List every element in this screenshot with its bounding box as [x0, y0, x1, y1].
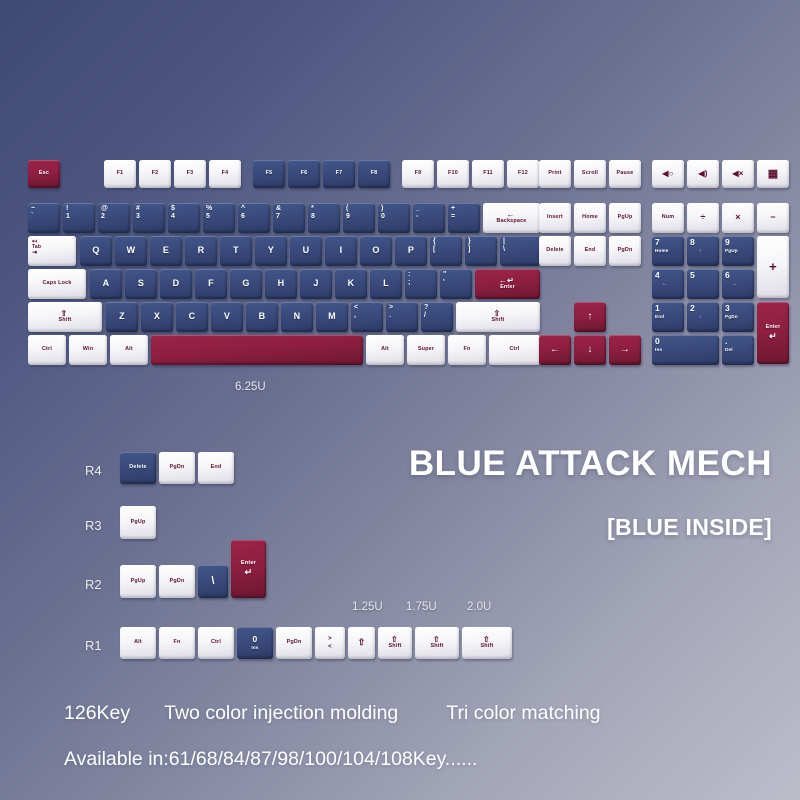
key-r3-pgup[interactable]: PgUp	[120, 506, 156, 539]
key-legend-top: ?	[424, 304, 428, 311]
key-z[interactable]: Z	[106, 302, 138, 332]
spacebar-size-label: 6.25U	[235, 381, 266, 393]
key-legend-top: +	[451, 205, 455, 212]
down-arrow-icon: ↓	[587, 345, 592, 355]
key-numpad-2[interactable]: 2 ↓	[687, 302, 719, 332]
key-j[interactable]: J	[300, 269, 332, 299]
key-legend-bottom: '	[443, 279, 445, 286]
key-legend: Z	[119, 312, 125, 321]
key-legend: PgDn	[170, 579, 185, 585]
key-numpad-decimal[interactable]: . Del	[722, 335, 754, 365]
key-k[interactable]: K	[335, 269, 367, 299]
key-legend: G	[242, 279, 249, 288]
key-f7[interactable]: F7	[323, 160, 355, 188]
key-legend: Num	[662, 215, 675, 221]
vol-up-icon: ◀)	[698, 170, 707, 178]
footer-feature-1: Two color injection molding	[164, 702, 398, 725]
key-numpad-divide[interactable]: ÷	[687, 203, 719, 233]
key-insert[interactable]: Insert	[539, 203, 571, 233]
key-legend: M	[328, 312, 336, 321]
product-image-canvas: Esc F1 F2 F3 F4 F5 F6 F7 F8 F9 F10 F11 F…	[0, 0, 800, 800]
product-title: BLUE ATTACK MECH	[409, 444, 772, 484]
key-legend-top: )	[381, 205, 384, 212]
key-legend: Pause	[617, 171, 634, 177]
key-legend: \	[211, 576, 214, 587]
key-bracket-right[interactable]: } ]	[465, 236, 497, 266]
key-legend: T	[233, 246, 239, 255]
key-legend: Home	[582, 215, 598, 221]
key-legend: F6	[301, 171, 308, 177]
key-legend: Alt	[134, 640, 142, 646]
key-legend: C	[189, 312, 196, 321]
key-pause[interactable]: Pause	[609, 160, 641, 188]
key-legend: F5	[266, 171, 273, 177]
key-legend: Shift	[431, 644, 444, 650]
key-r1-fn[interactable]: Fn	[159, 627, 195, 659]
key-legend-bottom: .	[389, 312, 391, 319]
key-legend-top: _	[416, 205, 420, 212]
key-legend-bottom: 1	[66, 213, 70, 220]
key-legend: Fn	[464, 347, 471, 353]
key-legend-top: 7	[655, 238, 660, 247]
key-legend-top: 6	[725, 271, 730, 280]
key-legend: Caps Lock	[42, 281, 71, 287]
key-home[interactable]: Home	[574, 203, 606, 233]
key-legend: Delete	[546, 248, 563, 254]
key-legend-bottom: 2	[101, 213, 105, 220]
key-period[interactable]: > .	[386, 302, 418, 332]
key-8[interactable]: * 8	[308, 203, 340, 233]
key-g[interactable]: G	[230, 269, 262, 299]
key-numpad-9[interactable]: 9 PgUp	[722, 236, 754, 266]
key-n[interactable]: N	[281, 302, 313, 332]
key-legend: O	[372, 246, 379, 255]
key-legend: R	[198, 246, 205, 255]
key-y[interactable]: Y	[255, 236, 287, 266]
key-r2-iso-enter[interactable]: Enter ↵	[231, 540, 266, 598]
key-ctrl-left[interactable]: Ctrl	[28, 335, 66, 365]
key-legend-top: 0	[655, 337, 660, 346]
key-numlock[interactable]: Num	[652, 203, 684, 233]
key-r1-angle[interactable]: > <	[315, 627, 345, 659]
key-minus[interactable]: _ -	[413, 203, 445, 233]
key-legend: PgUp	[618, 215, 633, 221]
key-m[interactable]: M	[316, 302, 348, 332]
key-legend-bottom: PgDn	[725, 315, 738, 320]
key-3[interactable]: # 3	[133, 203, 165, 233]
key-r1-ctrl[interactable]: Ctrl	[198, 627, 234, 659]
row-label-r1: R1	[85, 638, 102, 653]
key-5[interactable]: % 5	[203, 203, 235, 233]
row-label-r2: R2	[85, 577, 102, 592]
key-legend-top: #	[136, 205, 140, 212]
key-legend: Ctrl	[42, 347, 52, 353]
key-alt-left[interactable]: Alt	[110, 335, 148, 365]
key-backspace[interactable]: ← Backspace	[483, 203, 540, 233]
right-arrow-icon: →	[732, 282, 737, 287]
key-q[interactable]: Q	[80, 236, 112, 266]
key-end[interactable]: End	[574, 236, 606, 266]
key-volume-down[interactable]: ◀○	[652, 160, 684, 188]
key-legend: PgDn	[170, 465, 185, 471]
key-legend: −	[770, 213, 775, 222]
key-arrow-right[interactable]: →	[609, 335, 641, 365]
key-2[interactable]: @ 2	[98, 203, 130, 233]
key-legend: Delete	[129, 465, 146, 471]
key-7[interactable]: & 7	[273, 203, 305, 233]
key-legend: Enter	[241, 561, 256, 567]
key-v[interactable]: V	[211, 302, 243, 332]
key-legend-bottom: =	[451, 213, 455, 220]
key-legend: F1	[117, 171, 124, 177]
key-a[interactable]: A	[90, 269, 122, 299]
key-r1-alt[interactable]: Alt	[120, 627, 156, 659]
key-r1-pgdn[interactable]: PgDn	[276, 627, 312, 659]
key-f9[interactable]: F9	[402, 160, 434, 188]
key-r1-zero-ins[interactable]: 0 Ins	[237, 627, 273, 659]
up-arrow-icon: ↑	[699, 249, 702, 254]
key-l[interactable]: L	[370, 269, 402, 299]
key-legend-bottom: ]	[468, 246, 471, 253]
key-legend: L	[383, 279, 389, 288]
key-backslash[interactable]: | \	[500, 236, 540, 266]
shift-200u-label: 2.0U	[467, 601, 491, 613]
key-i[interactable]: I	[325, 236, 357, 266]
key-legend-bottom: 7	[276, 213, 280, 220]
key-legend-bottom: Home	[655, 249, 669, 254]
key-legend-top: "	[443, 271, 447, 278]
key-r4-delete[interactable]: Delete	[120, 452, 156, 484]
calculator-icon: ▦	[768, 169, 779, 180]
key-legend: B	[259, 312, 266, 321]
shift-125u-label: 1.25U	[352, 601, 383, 613]
key-legend: Insert	[547, 215, 563, 221]
product-subtitle: [BLUE INSIDE]	[607, 514, 772, 541]
key-legend: F7	[336, 171, 343, 177]
key-f3[interactable]: F3	[174, 160, 206, 188]
key-numpad-5[interactable]: 5	[687, 269, 719, 299]
footer-features: 126KeyTwo color injection moldingTri col…	[64, 702, 601, 725]
key-legend-bottom: Ins	[251, 646, 258, 651]
key-calculator[interactable]: ▦	[757, 160, 789, 188]
key-bracket-left[interactable]: { [	[430, 236, 462, 266]
key-legend: ×	[735, 213, 740, 222]
key-legend-top: *	[311, 205, 314, 212]
left-arrow-icon: ←	[662, 282, 667, 287]
key-legend-bottom: PgUp	[725, 249, 738, 254]
key-r1-shift-1u[interactable]: ⇧	[348, 627, 375, 659]
key-legend-top: 9	[725, 238, 730, 247]
key-shift-right[interactable]: ⇧ Shift	[456, 302, 540, 332]
key-legend-bottom: Del	[725, 348, 733, 353]
key-legend-bottom: \	[503, 246, 505, 253]
key-legend-bottom: Ins	[655, 348, 662, 353]
key-legend: Shift	[389, 644, 402, 650]
left-arrow-icon: ←	[550, 345, 560, 355]
key-legend-bottom: End	[655, 315, 664, 320]
key-r1-shift-200u[interactable]: ⇧ Shift	[462, 627, 512, 659]
shift-arrow-icon: ⇧	[358, 638, 366, 647]
key-legend: U	[303, 246, 310, 255]
key-f11[interactable]: F11	[472, 160, 504, 188]
key-f2[interactable]: F2	[139, 160, 171, 188]
key-legend-top: 1	[655, 304, 660, 313]
key-r2-pgdn[interactable]: PgDn	[159, 565, 195, 598]
key-legend-top: ~	[31, 205, 35, 212]
key-r[interactable]: R	[185, 236, 217, 266]
key-numpad-6[interactable]: 6 →	[722, 269, 754, 299]
key-semicolon[interactable]: : ;	[405, 269, 437, 299]
enter-arrow-icon: ↵	[245, 568, 253, 577]
key-legend-bottom: 9	[346, 213, 350, 220]
key-legend-top: !	[66, 205, 69, 212]
key-legend: PgUp	[131, 579, 146, 585]
key-legend: +	[769, 260, 777, 273]
key-arrow-up[interactable]: ↑	[574, 302, 606, 332]
key-ctrl-right[interactable]: Ctrl	[489, 335, 540, 365]
key-legend-bottom: 3	[136, 213, 140, 220]
key-legend: F10	[448, 171, 458, 177]
key-f5[interactable]: F5	[253, 160, 285, 188]
key-legend-top: %	[206, 205, 212, 212]
key-legend: S	[138, 279, 144, 288]
key-legend: Fn	[174, 640, 181, 646]
key-numpad-multiply[interactable]: ×	[722, 203, 754, 233]
key-legend: Shift	[59, 318, 72, 324]
key-legend: N	[294, 312, 301, 321]
key-f12[interactable]: F12	[507, 160, 539, 188]
key-legend-bottom: -	[416, 213, 419, 220]
key-legend: I	[340, 246, 343, 255]
key-f8[interactable]: F8	[358, 160, 390, 188]
key-legend: D	[173, 279, 180, 288]
key-0[interactable]: ) 0	[378, 203, 410, 233]
key-f[interactable]: F	[195, 269, 227, 299]
key-legend: ÷	[700, 213, 705, 222]
key-legend: Ctrl	[509, 347, 519, 353]
key-legend-bottom: /	[424, 312, 426, 319]
key-legend: Shift	[492, 318, 505, 324]
enter-arrow-icon: ↵	[769, 332, 777, 341]
key-4[interactable]: $ 4	[168, 203, 200, 233]
footer-feature-2: Tri color matching	[446, 702, 600, 725]
key-delete[interactable]: Delete	[539, 236, 571, 266]
key-r2-backslash[interactable]: \	[198, 565, 228, 598]
row-label-r3: R3	[85, 518, 102, 533]
key-1[interactable]: ! 1	[63, 203, 95, 233]
key-legend-bottom: 4	[171, 213, 175, 220]
key-numpad-7[interactable]: 7 Home	[652, 236, 684, 266]
key-legend: E	[163, 246, 169, 255]
key-legend: Enter	[766, 325, 781, 331]
row-label-r4: R4	[85, 463, 102, 478]
key-legend-top: &	[276, 205, 281, 212]
footer-key-count: 126Key	[64, 702, 130, 725]
key-numpad-3[interactable]: 3 PgDn	[722, 302, 754, 332]
key-win[interactable]: Win	[69, 335, 107, 365]
key-caps-lock[interactable]: Caps Lock	[28, 269, 86, 299]
key-9[interactable]: ( 9	[343, 203, 375, 233]
key-legend: F12	[518, 171, 528, 177]
key-legend: Enter	[500, 285, 515, 291]
key-quote[interactable]: " '	[440, 269, 472, 299]
key-arrow-down[interactable]: ↓	[574, 335, 606, 365]
key-tab[interactable]: ↤ Tab ⇥	[28, 236, 76, 266]
shift-175u-label: 1.75U	[406, 601, 437, 613]
key-w[interactable]: W	[115, 236, 147, 266]
key-legend: A	[103, 279, 110, 288]
key-legend: P	[408, 246, 414, 255]
key-numpad-plus[interactable]: +	[757, 236, 789, 298]
key-legend: Alt	[381, 347, 389, 353]
key-esc[interactable]: Esc	[28, 160, 60, 188]
key-legend-top: >	[328, 636, 332, 642]
key-pgdn[interactable]: PgDn	[609, 236, 641, 266]
key-legend-top: }	[468, 238, 471, 245]
key-numpad-0[interactable]: 0 Ins	[652, 335, 719, 365]
key-f10[interactable]: F10	[437, 160, 469, 188]
key-f1[interactable]: F1	[104, 160, 136, 188]
right-arrow-icon: →	[620, 345, 630, 355]
key-legend-bottom: ;	[408, 279, 411, 286]
key-f4[interactable]: F4	[209, 160, 241, 188]
key-legend-top: 3	[725, 304, 730, 313]
key-legend: PgDn	[618, 248, 633, 254]
key-h[interactable]: H	[265, 269, 297, 299]
key-legend: F8	[371, 171, 378, 177]
key-legend: Win	[83, 347, 93, 353]
key-legend: Backspace	[497, 219, 527, 225]
key-print[interactable]: Print	[539, 160, 571, 188]
down-arrow-icon: ↓	[699, 315, 702, 320]
key-legend: J	[313, 279, 318, 288]
key-b[interactable]: B	[246, 302, 278, 332]
key-legend-top: <	[354, 304, 358, 311]
key-legend: PgDn	[287, 640, 302, 646]
key-legend: F11	[483, 171, 493, 177]
key-fn[interactable]: Fn	[448, 335, 486, 365]
key-r1-shift-125u[interactable]: ⇧ Shift	[378, 627, 412, 659]
key-legend-top: :	[408, 271, 411, 278]
key-t[interactable]: T	[220, 236, 252, 266]
key-legend: Esc	[39, 171, 49, 177]
key-legend-top: 4	[655, 271, 660, 280]
key-slash[interactable]: ? /	[421, 302, 453, 332]
key-comma[interactable]: < ,	[351, 302, 383, 332]
key-legend: End	[211, 465, 222, 471]
key-s[interactable]: S	[125, 269, 157, 299]
key-scroll[interactable]: Scroll	[574, 160, 606, 188]
key-u[interactable]: U	[290, 236, 322, 266]
key-pgup[interactable]: PgUp	[609, 203, 641, 233]
key-p[interactable]: P	[395, 236, 427, 266]
key-alt-right[interactable]: Alt	[366, 335, 404, 365]
key-legend: Super	[418, 347, 434, 353]
key-numpad-minus[interactable]: −	[757, 203, 789, 233]
key-legend: Shift	[481, 644, 494, 650]
key-legend-top: 0	[253, 635, 258, 644]
key-legend: End	[585, 248, 596, 254]
key-spacebar[interactable]	[151, 335, 363, 365]
key-legend-bottom: 8	[311, 213, 315, 220]
footer-availability: Available in:61/68/84/87/98/100/104/108K…	[64, 748, 477, 771]
key-legend: Scroll	[582, 171, 598, 177]
key-legend: F3	[187, 171, 194, 177]
key-legend-bottom: 5	[206, 213, 210, 220]
key-legend: Q	[92, 246, 99, 255]
key-legend: Print	[548, 171, 561, 177]
key-legend: W	[127, 246, 136, 255]
key-legend: F9	[415, 171, 422, 177]
key-r1-shift-175u[interactable]: ⇧ Shift	[415, 627, 459, 659]
key-e[interactable]: E	[150, 236, 182, 266]
key-x[interactable]: X	[141, 302, 173, 332]
key-r4-end[interactable]: End	[198, 452, 234, 484]
key-legend-top: 8	[690, 238, 695, 247]
key-legend-bottom: [	[433, 246, 436, 253]
key-legend: V	[224, 312, 230, 321]
key-legend-top: @	[101, 205, 108, 212]
key-legend-bottom: 6	[241, 213, 245, 220]
key-numpad-4[interactable]: 4 ←	[652, 269, 684, 299]
key-equal[interactable]: + =	[448, 203, 480, 233]
key-arrow-left[interactable]: ←	[539, 335, 571, 365]
key-f6[interactable]: F6	[288, 160, 320, 188]
key-legend-top: 5	[690, 271, 695, 280]
key-numpad-enter[interactable]: Enter ↵	[757, 302, 789, 364]
key-legend-top: $	[171, 205, 175, 212]
key-legend: K	[348, 279, 355, 288]
key-legend-top: .	[725, 337, 728, 346]
key-shift-left[interactable]: ⇧ Shift	[28, 302, 102, 332]
key-legend: X	[154, 312, 160, 321]
key-enter[interactable]: ←↵ Enter	[475, 269, 540, 299]
key-super[interactable]: Super	[407, 335, 445, 365]
key-r2-pgup[interactable]: PgUp	[120, 565, 156, 598]
key-o[interactable]: O	[360, 236, 392, 266]
key-legend-bottom: `	[31, 213, 34, 220]
key-c[interactable]: C	[176, 302, 208, 332]
key-legend: Alt	[125, 347, 133, 353]
key-legend-bottom: <	[328, 644, 332, 650]
key-legend-top: >	[389, 304, 393, 311]
key-r4-pgdn[interactable]: PgDn	[159, 452, 195, 484]
key-d[interactable]: D	[160, 269, 192, 299]
key-6[interactable]: ^ 6	[238, 203, 270, 233]
key-legend-bottom: ,	[354, 312, 356, 319]
key-legend: F	[208, 279, 214, 288]
mute-icon: ◀×	[732, 170, 743, 178]
vol-down-icon: ◀○	[662, 170, 673, 178]
tab-arrow-right-icon: ⇥	[32, 250, 37, 256]
key-legend-top: |	[503, 238, 505, 245]
key-legend: Ctrl	[211, 640, 221, 646]
up-arrow-icon: ↑	[587, 312, 592, 322]
key-legend: F2	[152, 171, 159, 177]
key-legend: F4	[222, 171, 229, 177]
key-legend-top: (	[346, 205, 349, 212]
key-numpad-8[interactable]: 8 ↑	[687, 236, 719, 266]
key-legend-top: {	[433, 238, 436, 245]
key-numpad-1[interactable]: 1 End	[652, 302, 684, 332]
key-legend-bottom: 0	[381, 213, 385, 220]
key-tilde[interactable]: ~ `	[28, 203, 60, 233]
key-volume-up[interactable]: ◀)	[687, 160, 719, 188]
key-legend: PgUp	[131, 520, 146, 526]
key-legend: Y	[268, 246, 274, 255]
key-mute[interactable]: ◀×	[722, 160, 754, 188]
key-legend: H	[278, 279, 285, 288]
